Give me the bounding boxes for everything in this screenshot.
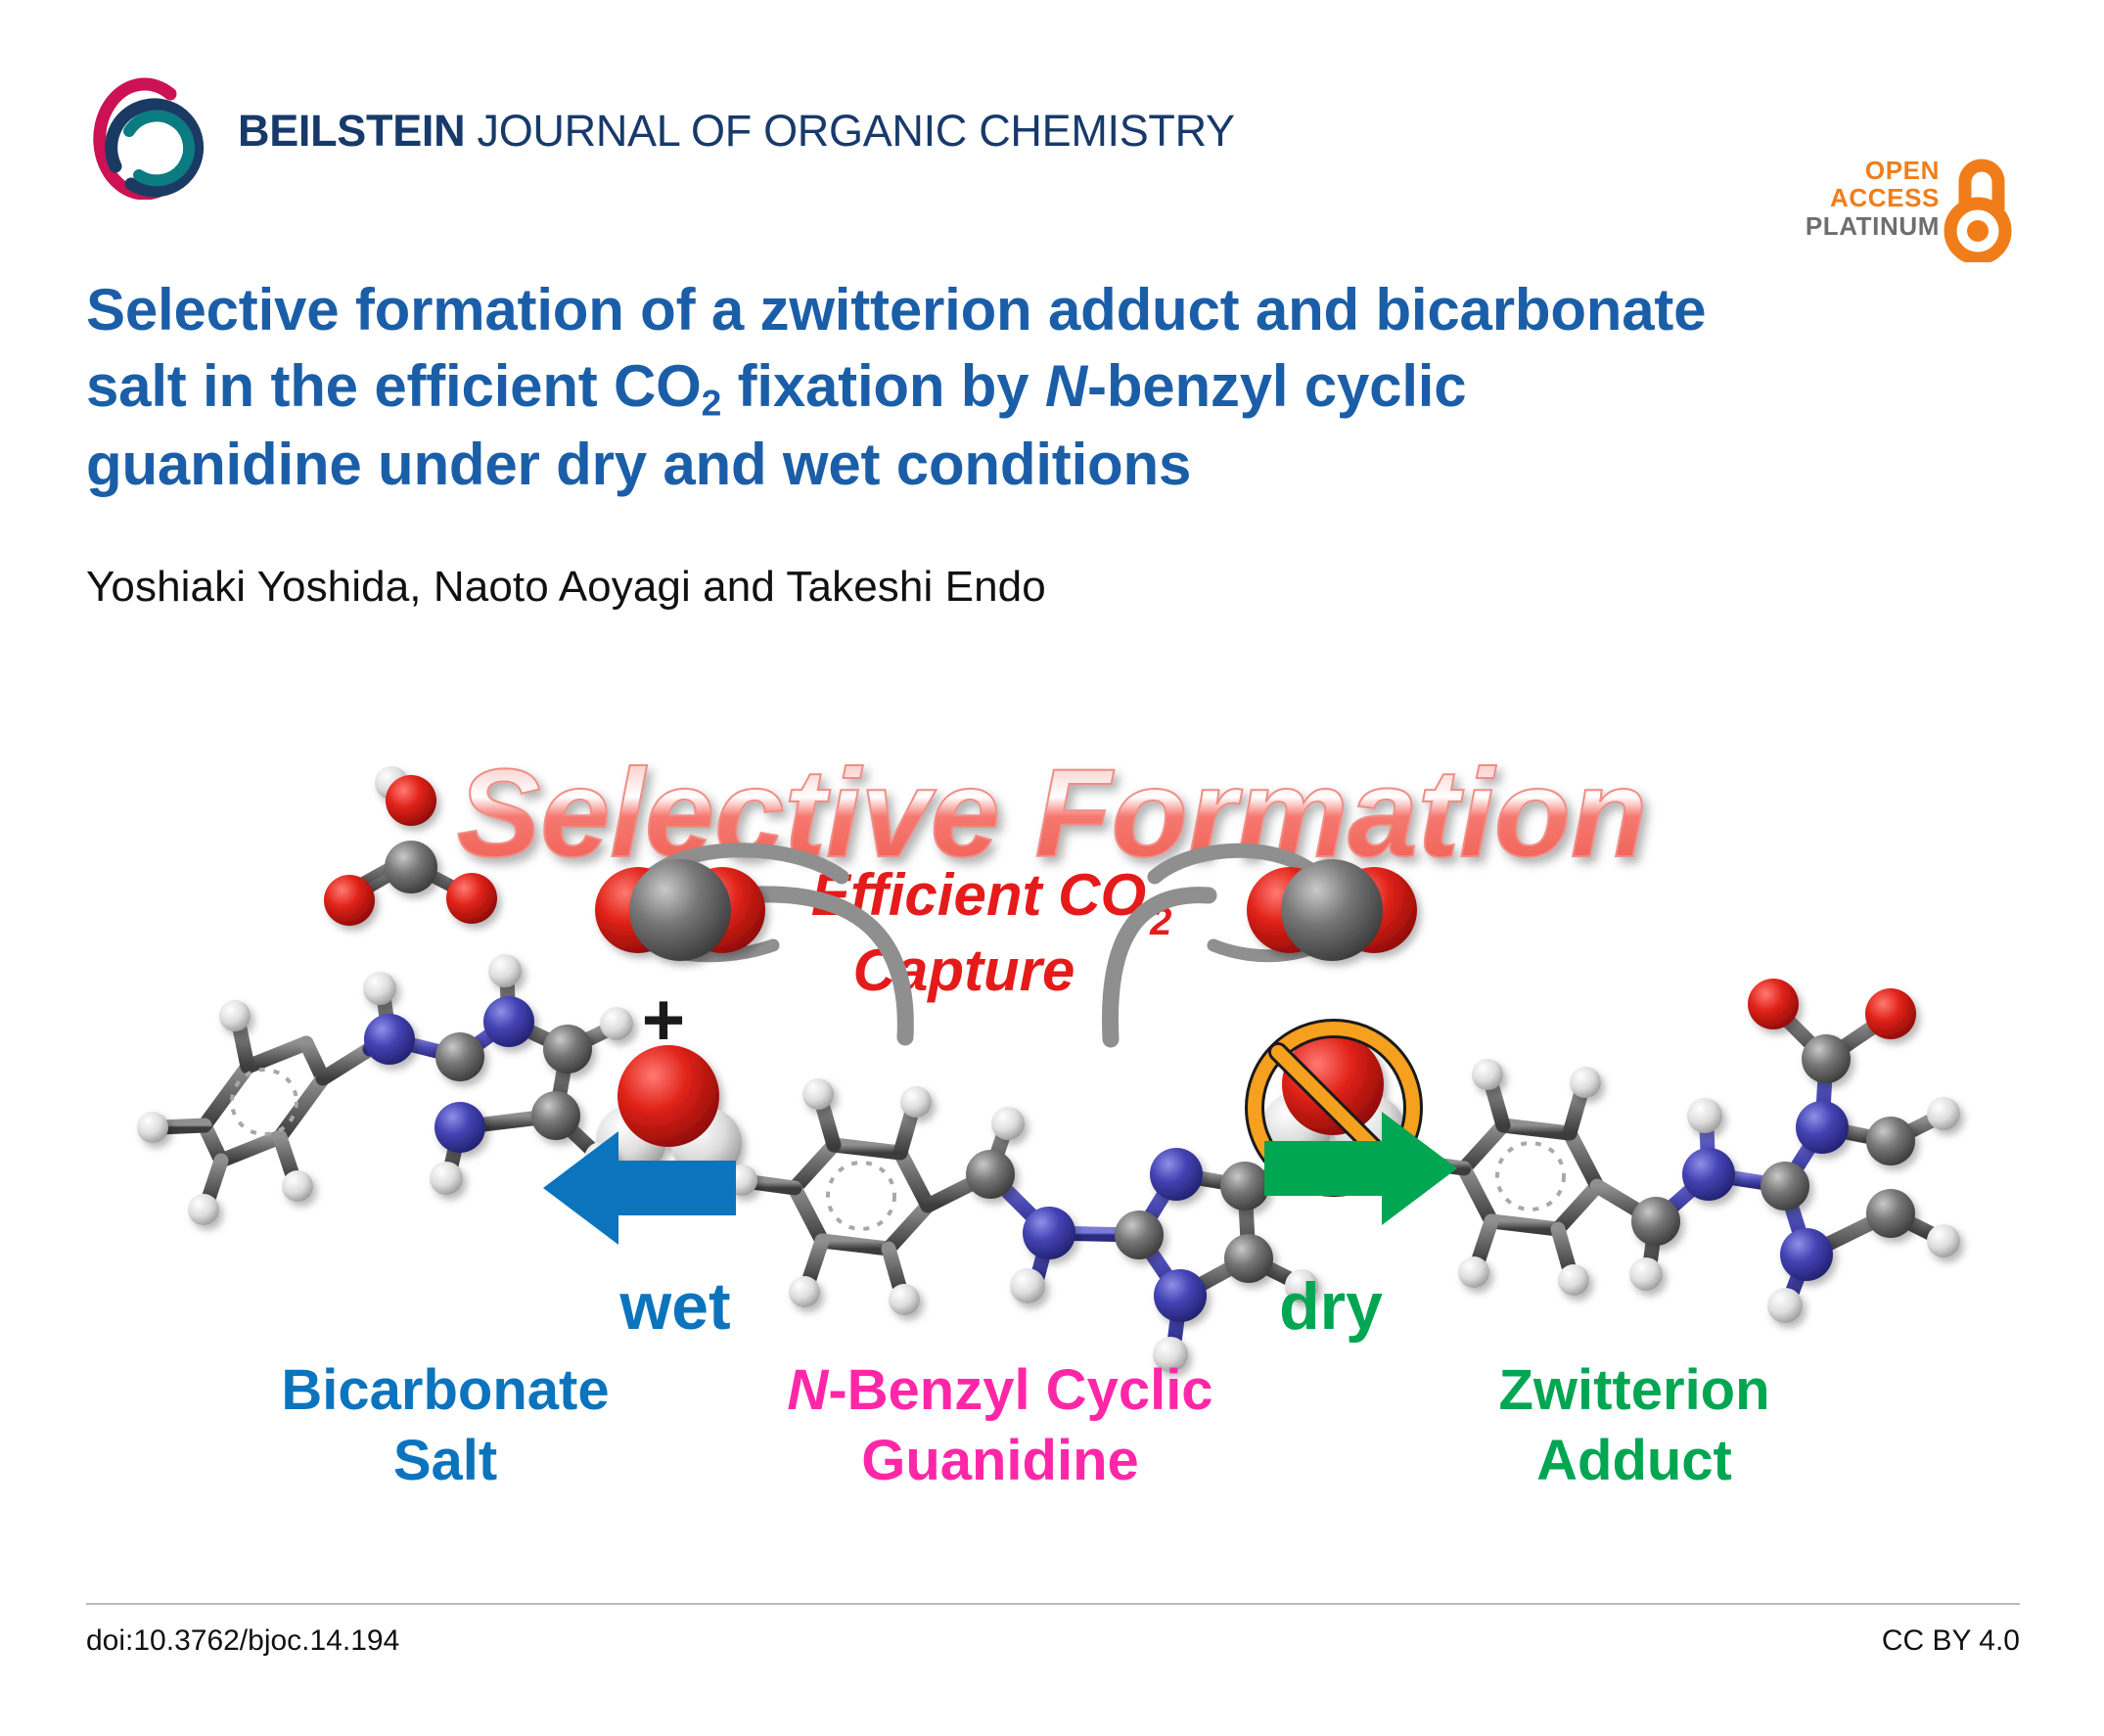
page-header: BEILSTEIN JOURNAL OF ORGANIC CHEMISTRY O… bbox=[0, 0, 2104, 196]
title-line-2-b: fixation by bbox=[721, 353, 1045, 419]
page-title: Selective formation of a zwitterion addu… bbox=[86, 272, 1945, 503]
title-co2-subscript: 2 bbox=[702, 383, 721, 424]
svg-text:Guanidine: Guanidine bbox=[861, 1429, 1139, 1492]
doi-text: doi:10.3762/bjoc.14.194 bbox=[86, 1624, 399, 1658]
n-benzyl-cyclic-guanidine-model bbox=[726, 1078, 1318, 1372]
authors-line: Yoshiaki Yoshida, Naoto Aoyagi and Takes… bbox=[86, 563, 1046, 612]
svg-text:Salt: Salt bbox=[393, 1429, 497, 1492]
open-access-badge: OPEN ACCESS PLATINUM bbox=[1779, 76, 2034, 194]
svg-text:N-Benzyl Cyclic: N-Benzyl Cyclic bbox=[787, 1358, 1212, 1422]
journal-name-bold: BEILSTEIN bbox=[238, 106, 465, 156]
journal-name-rest: JOURNAL OF ORGANIC CHEMISTRY bbox=[465, 106, 1234, 156]
dry-label: dry bbox=[1279, 1269, 1383, 1344]
article-cover-page: BEILSTEIN JOURNAL OF ORGANIC CHEMISTRY O… bbox=[0, 0, 2104, 1736]
label-n-benzyl-cyclic-guanidine: N-Benzyl Cyclic Guanidine bbox=[787, 1358, 1212, 1492]
title-line-2: salt in the efficient CO2 fixation by N-… bbox=[86, 348, 1945, 427]
title-line-2-a: salt in the efficient CO bbox=[86, 353, 702, 419]
open-access-line-platinum: PLATINUM bbox=[1806, 212, 1940, 240]
open-access-line-access: ACCESS bbox=[1806, 184, 1940, 211]
label-zwitterion-adduct: Zwitterion Adduct bbox=[1498, 1358, 1769, 1492]
open-lock-icon bbox=[1940, 155, 2016, 262]
graphical-abstract: Selective Formation Efficient CO 2 Captu… bbox=[0, 685, 2104, 1527]
open-access-text: OPEN ACCESS PLATINUM bbox=[1806, 157, 1940, 240]
wet-label: wet bbox=[618, 1269, 730, 1344]
svg-text:Zwitterion: Zwitterion bbox=[1498, 1358, 1769, 1422]
co2-molecule-left bbox=[595, 859, 765, 961]
svg-text:Bicarbonate: Bicarbonate bbox=[281, 1358, 609, 1422]
license-text: CC BY 4.0 bbox=[1882, 1624, 2020, 1658]
open-access-line-open: OPEN bbox=[1806, 157, 1940, 184]
journal-title: BEILSTEIN JOURNAL OF ORGANIC CHEMISTRY bbox=[238, 106, 1235, 157]
zwitterion-adduct-model bbox=[1395, 979, 1960, 1323]
co2-molecule-right bbox=[1247, 859, 1417, 961]
title-line-2-c: -benzyl cyclic bbox=[1087, 353, 1466, 419]
beilstein-logo-icon bbox=[86, 76, 209, 200]
title-italic-n: N bbox=[1045, 353, 1087, 419]
title-line-1: Selective formation of a zwitterion addu… bbox=[86, 272, 1945, 348]
label-bicarbonate-salt: Bicarbonate Salt bbox=[281, 1358, 609, 1492]
footer-divider bbox=[86, 1603, 2020, 1605]
title-line-3: guanidine under dry and wet conditions bbox=[86, 427, 1945, 503]
svg-text:Adduct: Adduct bbox=[1536, 1429, 1732, 1492]
